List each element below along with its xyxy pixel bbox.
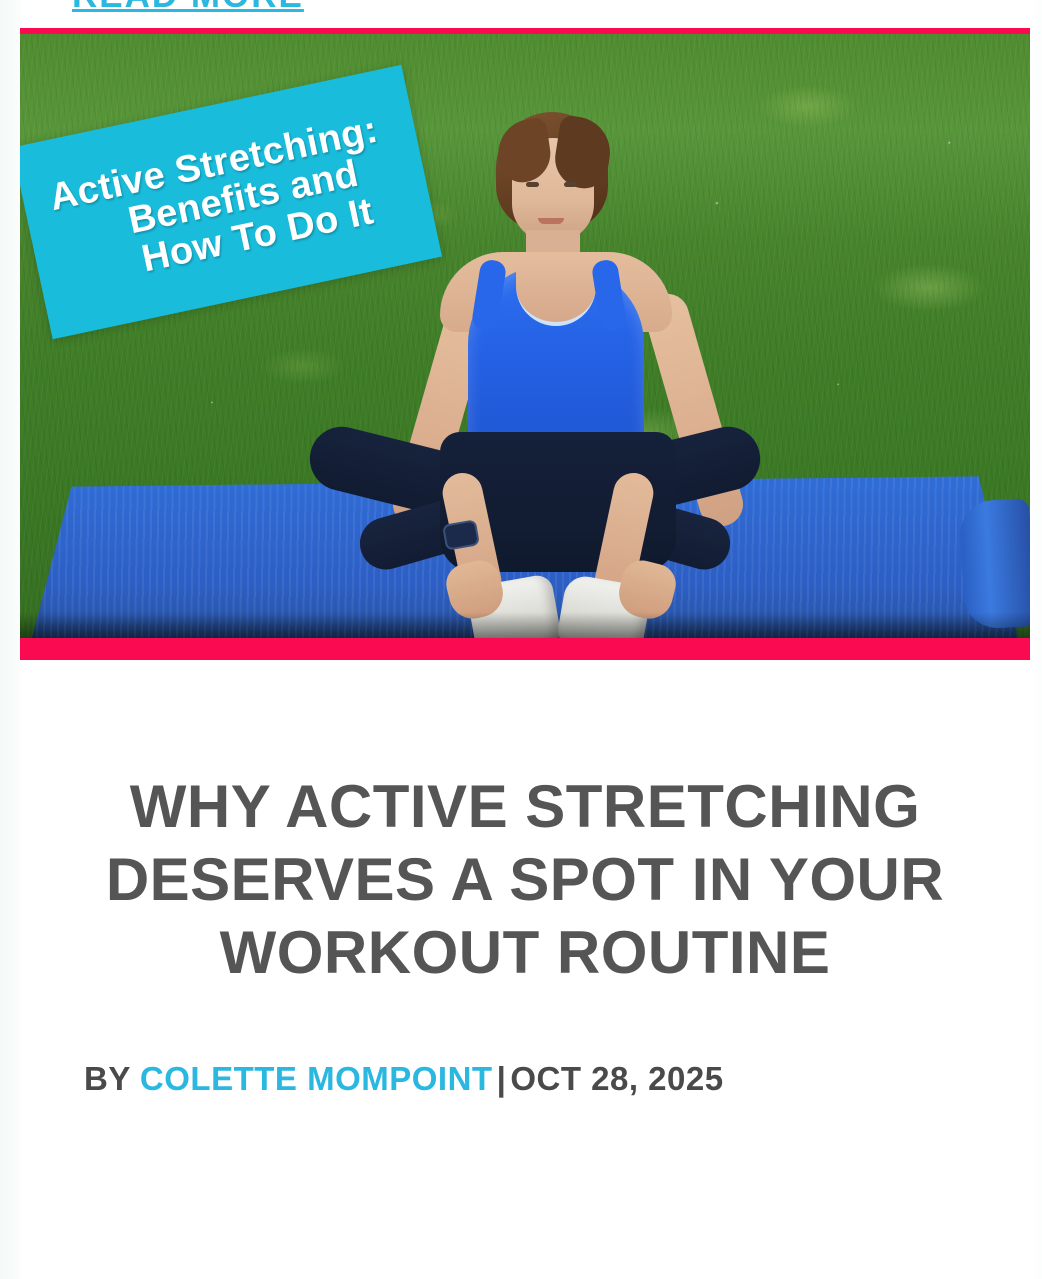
byline-author-link[interactable]: COLETTE MOMPOINT [140,1060,493,1097]
read-more-link-strip: READ MORE [0,0,1042,28]
byline-date: OCT 28, 2025 [510,1060,723,1097]
article-byline: BY COLETTE MOMPOINT|OCT 28, 2025 [66,1060,984,1098]
right-eye [564,182,577,187]
mat-ground-shadow [20,612,1030,638]
article-text-block: WHY ACTIVE STRETCHING DESERVES A SPOT IN… [20,662,1030,1279]
article-hero-image[interactable]: Active Stretching: Benefits and How To D… [20,28,1030,660]
hero-title-banner-text: Active Stretching: Benefits and How To D… [42,107,411,296]
byline-prefix: BY [84,1060,130,1097]
hero-photograph: Active Stretching: Benefits and How To D… [20,34,1030,638]
page-right-edge-tint [1030,0,1042,1279]
page-left-edge-tint [0,0,22,1279]
article-headline[interactable]: WHY ACTIVE STRETCHING DESERVES A SPOT IN… [66,770,984,990]
read-more-link[interactable]: READ MORE [72,0,304,13]
left-eye [526,182,539,187]
byline-separator: | [493,1060,511,1097]
mouth [538,218,564,224]
